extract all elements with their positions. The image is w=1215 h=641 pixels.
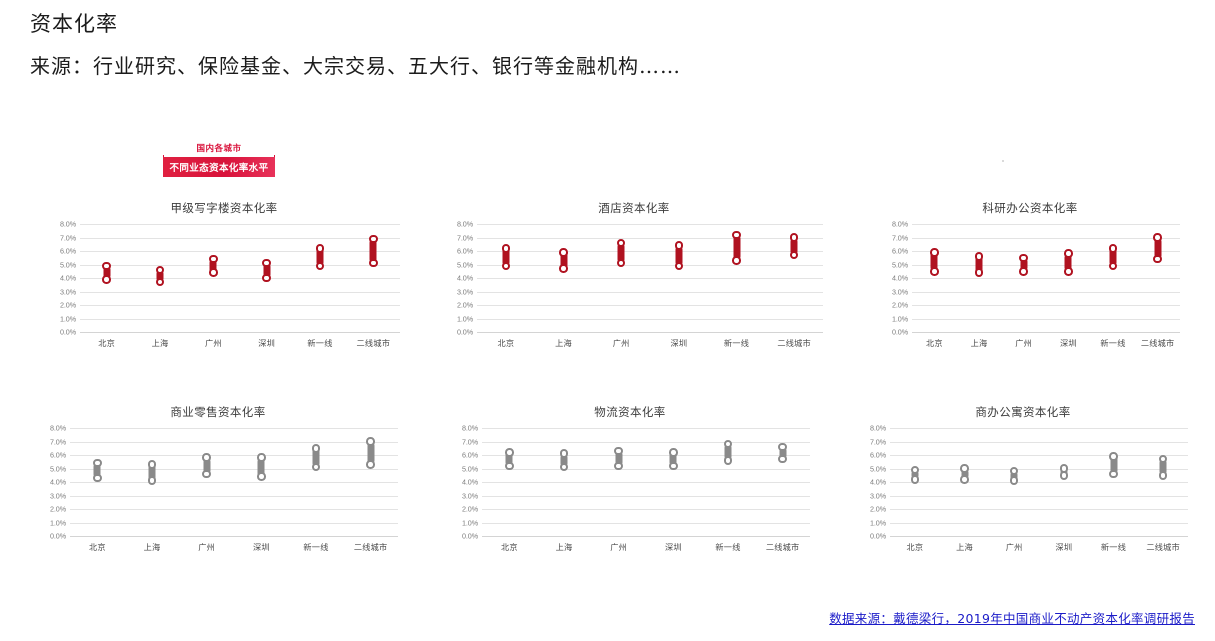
range-marker <box>254 428 268 536</box>
gridline <box>890 509 1188 510</box>
range-marker <box>927 224 941 332</box>
y-axis-tick: 7.0% <box>462 437 478 446</box>
range-marker <box>666 428 680 536</box>
gridline <box>70 509 398 510</box>
range-cap-low <box>366 460 375 469</box>
x-axis-tick: 深圳 <box>258 337 275 349</box>
range-marker <box>557 224 571 332</box>
badge-bar-label: 不同业态资本化率水平 <box>163 157 275 177</box>
range-cap-low <box>1109 470 1118 479</box>
y-axis-tick: 8.0% <box>462 424 478 433</box>
x-axis-labels: 北京上海广州深圳新一线二线城市 <box>912 332 1180 350</box>
chart-hotel: 酒店资本化率8.0%7.0%6.0%5.0%4.0%3.0%2.0%1.0%0.… <box>445 200 823 350</box>
page-title: 资本化率 <box>30 8 118 38</box>
range-cap-low <box>1153 255 1162 264</box>
range-marker <box>1061 224 1075 332</box>
x-axis-tick: 上海 <box>144 541 161 553</box>
x-axis-tick: 上海 <box>555 337 572 349</box>
x-axis-tick: 二线城市 <box>777 337 811 349</box>
gridline <box>482 482 810 483</box>
range-cap-high <box>975 252 984 261</box>
gridline <box>80 319 400 320</box>
y-axis-tick: 0.0% <box>892 328 908 337</box>
range-cap-low <box>1019 267 1028 276</box>
gridline <box>80 305 400 306</box>
range-cap-high <box>1064 249 1073 258</box>
gridline <box>890 523 1188 524</box>
y-axis-tick: 2.0% <box>457 301 473 310</box>
range-marker <box>100 224 114 332</box>
x-axis-tick: 上海 <box>152 337 169 349</box>
x-axis-tick: 上海 <box>956 541 973 553</box>
chart-title: 科研办公资本化率 <box>880 200 1180 216</box>
gridline <box>912 251 1180 252</box>
range-marker <box>499 224 513 332</box>
y-axis-tick: 7.0% <box>60 233 76 242</box>
gridline <box>70 469 398 470</box>
x-axis-tick: 深圳 <box>253 541 270 553</box>
range-cap-low <box>1060 471 1069 480</box>
x-axis-labels: 北京上海广州深圳新一线二线城市 <box>80 332 400 350</box>
y-axis-tick: 4.0% <box>892 274 908 283</box>
range-marker <box>200 428 214 536</box>
y-axis-tick: 7.0% <box>892 233 908 242</box>
x-axis-tick: 二线城市 <box>766 541 800 553</box>
range-marker <box>1106 224 1120 332</box>
gridline <box>477 292 823 293</box>
x-axis-tick: 广州 <box>1006 541 1023 553</box>
range-cap-high <box>1109 244 1118 253</box>
x-axis-labels: 北京上海广州深圳新一线二线城市 <box>70 536 398 554</box>
range-marker <box>557 428 571 536</box>
range-marker <box>364 428 378 536</box>
gridline <box>70 496 398 497</box>
range-cap-low <box>960 475 969 484</box>
range-cap-low <box>1010 476 1019 485</box>
slide-root: 资本化率 来源：行业研究、保险基金、大宗交易、五大行、银行等金融机构…… 国内各… <box>0 0 1215 641</box>
gridline <box>477 278 823 279</box>
x-axis-tick: 北京 <box>497 337 514 349</box>
x-axis-tick: 北京 <box>906 541 923 553</box>
range-marker <box>958 428 972 536</box>
range-cap-high <box>505 448 514 457</box>
range-cap-low <box>675 262 684 271</box>
x-axis-tick: 新一线 <box>724 337 749 349</box>
y-axis-tick: 8.0% <box>60 220 76 229</box>
range-marker <box>1156 428 1170 536</box>
x-axis-labels: 北京上海广州深圳新一线二线城市 <box>890 536 1188 554</box>
y-axis-tick: 7.0% <box>50 437 66 446</box>
gridline <box>80 278 400 279</box>
plot-wrap: 8.0%7.0%6.0%5.0%4.0%3.0%2.0%1.0%0.0% <box>48 224 400 332</box>
gridline <box>912 224 1180 225</box>
y-axis-tick: 2.0% <box>870 505 886 514</box>
range-cap-low <box>975 268 984 277</box>
range-cap-low <box>202 470 211 479</box>
chart-retail: 商业零售资本化率8.0%7.0%6.0%5.0%4.0%3.0%2.0%1.0%… <box>38 404 398 554</box>
gridline <box>912 319 1180 320</box>
range-cap-low <box>560 463 569 472</box>
x-axis-tick: 二线城市 <box>357 337 391 349</box>
range-cap-high <box>790 233 799 242</box>
range-marker <box>1057 428 1071 536</box>
range-marker <box>721 428 735 536</box>
range-cap-low <box>778 455 787 464</box>
chart-title: 物流资本化率 <box>450 404 810 420</box>
x-axis-tick: 北京 <box>501 541 518 553</box>
y-axis-tick: 1.0% <box>457 314 473 323</box>
y-axis-tick: 6.0% <box>50 451 66 460</box>
plot-wrap: 8.0%7.0%6.0%5.0%4.0%3.0%2.0%1.0%0.0% <box>38 428 398 536</box>
badge-top-label-text: 国内各城市 <box>191 143 246 153</box>
gridline <box>890 442 1188 443</box>
x-axis-tick: 新一线 <box>303 541 328 553</box>
y-axis-tick: 1.0% <box>892 314 908 323</box>
range-cap-low <box>148 476 157 485</box>
y-axis-tick: 3.0% <box>892 287 908 296</box>
plot-wrap: 8.0%7.0%6.0%5.0%4.0%3.0%2.0%1.0%0.0% <box>445 224 823 332</box>
x-axis-tick: 新一线 <box>1100 337 1125 349</box>
plot-wrap: 8.0%7.0%6.0%5.0%4.0%3.0%2.0%1.0%0.0% <box>450 428 810 536</box>
x-axis-tick: 北京 <box>98 337 115 349</box>
range-cap-high <box>1109 452 1118 461</box>
x-axis-tick: 二线城市 <box>1146 541 1180 553</box>
x-axis-tick: 新一线 <box>1101 541 1126 553</box>
x-axis-tick: 新一线 <box>715 541 740 553</box>
x-axis-tick: 二线城市 <box>354 541 388 553</box>
range-marker <box>309 428 323 536</box>
plot-wrap: 8.0%7.0%6.0%5.0%4.0%3.0%2.0%1.0%0.0% <box>858 428 1188 536</box>
gridline <box>80 292 400 293</box>
y-axis-tick: 6.0% <box>870 451 886 460</box>
y-axis-tick: 1.0% <box>60 314 76 323</box>
gridline <box>912 278 1180 279</box>
range-marker <box>612 428 626 536</box>
range-cap-low <box>312 463 321 472</box>
section-badge: 国内各城市 不同业态资本化率水平 <box>163 141 275 177</box>
range-marker <box>260 224 274 332</box>
range-cap-low <box>505 462 514 471</box>
range-marker <box>1151 224 1165 332</box>
gridline <box>482 428 810 429</box>
y-axis-tick: 3.0% <box>50 491 66 500</box>
y-axis-tick: 6.0% <box>60 247 76 256</box>
x-axis-tick: 深圳 <box>1060 337 1077 349</box>
x-axis-labels: 北京上海广州深圳新一线二线城市 <box>477 332 823 350</box>
gridline <box>482 509 810 510</box>
y-axis-tick: 0.0% <box>50 532 66 541</box>
y-axis-tick: 2.0% <box>50 505 66 514</box>
range-marker <box>366 224 380 332</box>
x-axis-tick: 上海 <box>556 541 573 553</box>
y-axis-tick: 4.0% <box>870 478 886 487</box>
source-note-link[interactable]: 数据来源：戴德梁行，2019年中国商业不动产资本化率调研报告 <box>829 608 1195 627</box>
range-marker <box>730 224 744 332</box>
range-cap-high <box>560 449 569 458</box>
y-axis-tick: 5.0% <box>60 260 76 269</box>
gridline <box>477 251 823 252</box>
plot-area: 8.0%7.0%6.0%5.0%4.0%3.0%2.0%1.0%0.0% <box>890 428 1188 536</box>
range-marker <box>1017 224 1031 332</box>
y-axis-tick: 4.0% <box>60 274 76 283</box>
range-cap-low <box>617 259 626 268</box>
y-axis-tick: 3.0% <box>60 287 76 296</box>
y-axis-tick: 8.0% <box>892 220 908 229</box>
range-marker <box>153 224 167 332</box>
page-subtitle: 来源：行业研究、保险基金、大宗交易、五大行、银行等金融机构…… <box>30 50 681 79</box>
chart-title: 酒店资本化率 <box>445 200 823 216</box>
y-axis-tick: 0.0% <box>870 532 886 541</box>
gridline <box>890 482 1188 483</box>
chart-grade-a-office: 甲级写字楼资本化率8.0%7.0%6.0%5.0%4.0%3.0%2.0%1.0… <box>48 200 400 350</box>
gridline <box>912 238 1180 239</box>
y-axis-tick: 3.0% <box>462 491 478 500</box>
y-axis-tick: 6.0% <box>892 247 908 256</box>
range-cap-high <box>202 453 211 462</box>
y-axis-tick: 4.0% <box>462 478 478 487</box>
gridline <box>912 292 1180 293</box>
range-cap-high <box>148 460 157 469</box>
range-marker <box>206 224 220 332</box>
gridline <box>70 523 398 524</box>
range-cap-high <box>257 453 266 462</box>
y-axis-tick: 1.0% <box>870 518 886 527</box>
range-cap-high <box>960 464 969 473</box>
range-cap-low <box>1064 267 1073 276</box>
plot-area: 8.0%7.0%6.0%5.0%4.0%3.0%2.0%1.0%0.0% <box>482 428 810 536</box>
range-cap-low <box>1109 262 1118 271</box>
range-marker <box>502 428 516 536</box>
range-cap-low <box>1159 471 1168 480</box>
range-cap-low <box>732 256 741 265</box>
gridline <box>890 455 1188 456</box>
chart-research-office: 科研办公资本化率8.0%7.0%6.0%5.0%4.0%3.0%2.0%1.0%… <box>880 200 1180 350</box>
x-axis-tick: 广州 <box>198 541 215 553</box>
range-cap-low <box>369 259 378 268</box>
x-axis-tick: 上海 <box>971 337 988 349</box>
range-cap-low <box>257 472 266 481</box>
gridline <box>890 496 1188 497</box>
decorative-speck <box>1002 160 1004 162</box>
range-marker <box>1007 428 1021 536</box>
gridline <box>70 442 398 443</box>
chart-serviced-apartment: 商办公寓资本化率8.0%7.0%6.0%5.0%4.0%3.0%2.0%1.0%… <box>858 404 1188 554</box>
gridline <box>482 469 810 470</box>
y-axis-tick: 1.0% <box>462 518 478 527</box>
y-axis-tick: 4.0% <box>457 274 473 283</box>
y-axis-tick: 5.0% <box>462 464 478 473</box>
y-axis-tick: 0.0% <box>457 328 473 337</box>
gridline <box>477 238 823 239</box>
range-cap-high <box>312 444 321 453</box>
y-axis-tick: 5.0% <box>457 260 473 269</box>
gridline <box>482 455 810 456</box>
gridline <box>482 523 810 524</box>
plot-area: 8.0%7.0%6.0%5.0%4.0%3.0%2.0%1.0%0.0% <box>912 224 1180 332</box>
gridline <box>890 469 1188 470</box>
gridline <box>477 265 823 266</box>
y-axis-tick: 0.0% <box>462 532 478 541</box>
range-cap-low <box>724 456 733 465</box>
gridline <box>70 482 398 483</box>
range-marker <box>1107 428 1121 536</box>
y-axis-tick: 6.0% <box>462 451 478 460</box>
range-cap-high <box>930 248 939 257</box>
y-axis-tick: 2.0% <box>462 505 478 514</box>
x-axis-tick: 深圳 <box>665 541 682 553</box>
badge-top-label: 国内各城市 <box>163 141 275 155</box>
range-cap-low <box>614 462 623 471</box>
range-cap-low <box>502 262 511 271</box>
range-cap-low <box>930 267 939 276</box>
y-axis-tick: 8.0% <box>870 424 886 433</box>
range-cap-low <box>102 275 111 284</box>
charts-grid: 甲级写字楼资本化率8.0%7.0%6.0%5.0%4.0%3.0%2.0%1.0… <box>0 192 1215 592</box>
range-cap-high <box>1153 233 1162 242</box>
gridline <box>477 224 823 225</box>
x-axis-tick: 深圳 <box>1055 541 1072 553</box>
y-axis-tick: 8.0% <box>50 424 66 433</box>
chart-title: 商业零售资本化率 <box>38 404 398 420</box>
plot-area: 8.0%7.0%6.0%5.0%4.0%3.0%2.0%1.0%0.0% <box>80 224 400 332</box>
y-axis-tick: 2.0% <box>892 301 908 310</box>
range-cap-low <box>790 251 799 260</box>
range-cap-high <box>669 448 678 457</box>
y-axis-tick: 5.0% <box>892 260 908 269</box>
chart-title: 甲级写字楼资本化率 <box>48 200 400 216</box>
range-cap-low <box>209 268 218 277</box>
range-marker <box>313 224 327 332</box>
y-axis-tick: 4.0% <box>50 478 66 487</box>
range-cap-high <box>316 244 325 253</box>
gridline <box>482 496 810 497</box>
gridline <box>890 428 1188 429</box>
range-cap-low <box>316 262 325 271</box>
gridline <box>482 442 810 443</box>
range-marker <box>776 428 790 536</box>
gridline <box>70 455 398 456</box>
x-axis-tick: 广州 <box>610 541 627 553</box>
range-cap-high <box>675 241 684 250</box>
gridline <box>912 265 1180 266</box>
chart-title: 商办公寓资本化率 <box>858 404 1188 420</box>
range-marker <box>145 428 159 536</box>
range-marker <box>972 224 986 332</box>
range-cap-low <box>669 462 678 471</box>
y-axis-tick: 1.0% <box>50 518 66 527</box>
y-axis-tick: 2.0% <box>60 301 76 310</box>
range-cap-high <box>559 248 568 257</box>
y-axis-tick: 7.0% <box>457 233 473 242</box>
range-cap-low <box>262 274 271 283</box>
gridline <box>477 305 823 306</box>
plot-area: 8.0%7.0%6.0%5.0%4.0%3.0%2.0%1.0%0.0% <box>70 428 398 536</box>
y-axis-tick: 3.0% <box>870 491 886 500</box>
y-axis-tick: 7.0% <box>870 437 886 446</box>
y-axis-tick: 5.0% <box>50 464 66 473</box>
gridline <box>80 251 400 252</box>
y-axis-tick: 3.0% <box>457 287 473 296</box>
gridline <box>70 428 398 429</box>
y-axis-tick: 8.0% <box>457 220 473 229</box>
gridline <box>80 224 400 225</box>
gridline <box>80 238 400 239</box>
gridline <box>912 305 1180 306</box>
chart-logistics: 物流资本化率8.0%7.0%6.0%5.0%4.0%3.0%2.0%1.0%0.… <box>450 404 810 554</box>
x-axis-tick: 深圳 <box>670 337 687 349</box>
range-cap-low <box>93 474 102 483</box>
gridline <box>477 319 823 320</box>
plot-area: 8.0%7.0%6.0%5.0%4.0%3.0%2.0%1.0%0.0% <box>477 224 823 332</box>
range-marker <box>908 428 922 536</box>
range-marker <box>672 224 686 332</box>
range-marker <box>614 224 628 332</box>
x-axis-tick: 广州 <box>1015 337 1032 349</box>
range-cap-low <box>559 264 568 273</box>
range-marker <box>90 428 104 536</box>
range-cap-low <box>156 278 165 287</box>
x-axis-labels: 北京上海广州深圳新一线二线城市 <box>482 536 810 554</box>
y-axis-tick: 5.0% <box>870 464 886 473</box>
x-axis-tick: 二线城市 <box>1141 337 1175 349</box>
range-cap-high <box>502 244 511 253</box>
range-marker <box>787 224 801 332</box>
x-axis-tick: 新一线 <box>307 337 332 349</box>
x-axis-tick: 广州 <box>205 337 222 349</box>
y-axis-tick: 6.0% <box>457 247 473 256</box>
range-cap-low <box>911 475 920 484</box>
x-axis-tick: 广州 <box>613 337 630 349</box>
plot-wrap: 8.0%7.0%6.0%5.0%4.0%3.0%2.0%1.0%0.0% <box>880 224 1180 332</box>
x-axis-tick: 北京 <box>926 337 943 349</box>
range-cap-high <box>366 437 375 446</box>
y-axis-tick: 0.0% <box>60 328 76 337</box>
x-axis-tick: 北京 <box>89 541 106 553</box>
gridline <box>80 265 400 266</box>
